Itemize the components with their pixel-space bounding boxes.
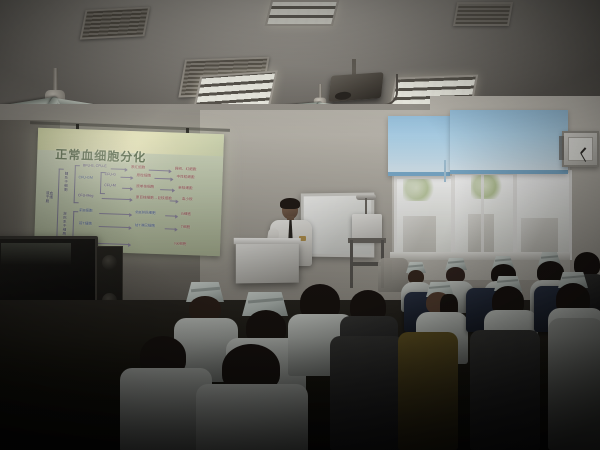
blind-bottom-bar — [450, 170, 568, 174]
diagram-node-next: 原单核细胞 — [136, 185, 154, 189]
diagram-node-end: B细胞 — [181, 213, 191, 217]
lectern-top — [234, 238, 301, 244]
window-blind[interactable] — [450, 110, 568, 174]
window-glare — [394, 176, 454, 260]
blind-pull-cord[interactable] — [444, 160, 446, 182]
diagram-arrow — [99, 213, 131, 215]
diagram-node-stage: CFU-G — [105, 173, 117, 177]
clock-face — [568, 137, 593, 161]
window — [452, 172, 516, 260]
diagram-node-stage: CFU-Meg — [78, 194, 94, 198]
diagram-arrow — [122, 188, 132, 189]
diagram-node-stage: CFU-GM — [78, 176, 92, 180]
air-vent-icon — [80, 6, 151, 39]
diagram-branch-myeloid: 髓系干细胞 — [64, 173, 72, 193]
diagram-node-stage: CFU-M — [104, 184, 116, 188]
document-camera — [352, 214, 382, 240]
diagram-node-next: 原巨核细胞→巨核细胞 — [136, 196, 172, 201]
diagram-node-next: 幼T淋巴细胞 — [135, 224, 155, 228]
diagram-arrow — [160, 189, 174, 190]
diagram-node-stage: 前B细胞 — [79, 209, 92, 213]
diagram-arrow — [149, 170, 171, 172]
uniform — [548, 318, 600, 450]
ceiling-panel-light — [265, 0, 339, 26]
lectern — [236, 241, 299, 284]
dark-clothing — [330, 336, 404, 450]
diagram-arrow — [102, 198, 132, 200]
wall-clock-icon — [562, 131, 599, 167]
diagram-arrow — [111, 168, 127, 170]
clock-minute-hand — [580, 153, 586, 162]
diagram-node-end: 血小板 — [182, 198, 193, 202]
clock-side-panel — [559, 136, 564, 160]
diagram-node-end: 中性粒细胞 — [176, 176, 194, 180]
diagram-arrow — [120, 177, 132, 178]
diagram-root-label: 造血干细胞 — [46, 192, 54, 204]
diagram-node-end: 网织、红细胞 — [175, 168, 197, 173]
diagram-node-stage: 前T细胞 — [79, 222, 92, 226]
olive-jacket — [398, 332, 458, 450]
diagram-sub-brace-2 — [72, 211, 78, 239]
uniform — [196, 384, 308, 450]
diagram-arrow — [170, 200, 178, 201]
window — [514, 170, 572, 260]
diagram-arrow — [154, 178, 172, 180]
blind-bottom-bar — [388, 172, 450, 176]
diagram-node-next: 原粒细胞 — [136, 174, 150, 178]
diagram-arrow — [99, 226, 131, 228]
speaker-driver — [102, 255, 117, 270]
diagram-node-next: 幼B淋巴细胞 — [135, 211, 155, 215]
window-blind[interactable] — [388, 116, 450, 176]
diagram-node-end: NK细胞 — [174, 243, 186, 247]
air-vent-icon — [453, 2, 513, 26]
cart-leg — [350, 240, 353, 288]
diagram-arrow — [165, 215, 177, 216]
dark-clothing — [470, 330, 540, 450]
lecture-room-photo: 正常血细胞分化 造血干细胞 髓系干细胞 淋巴系干细胞 BFU-E, CFU-E … — [0, 0, 600, 450]
presenter-hair — [280, 198, 300, 209]
diagram-node-end: 单核细胞 — [178, 187, 192, 191]
tv-screen-reflection — [1, 243, 71, 265]
diagram-node-stage: BFU-E, CFU-E — [83, 164, 107, 169]
window-glare — [452, 172, 516, 260]
diagram-node-next: 原红细胞 — [131, 166, 145, 170]
diagram-branch-lymphoid: 淋巴系干细胞 — [62, 213, 70, 237]
projector-cable — [374, 74, 398, 106]
diagram-node-end: T细胞 — [181, 226, 191, 230]
window — [394, 176, 454, 260]
window-glare — [514, 170, 572, 260]
diagram-arrow — [165, 228, 177, 229]
